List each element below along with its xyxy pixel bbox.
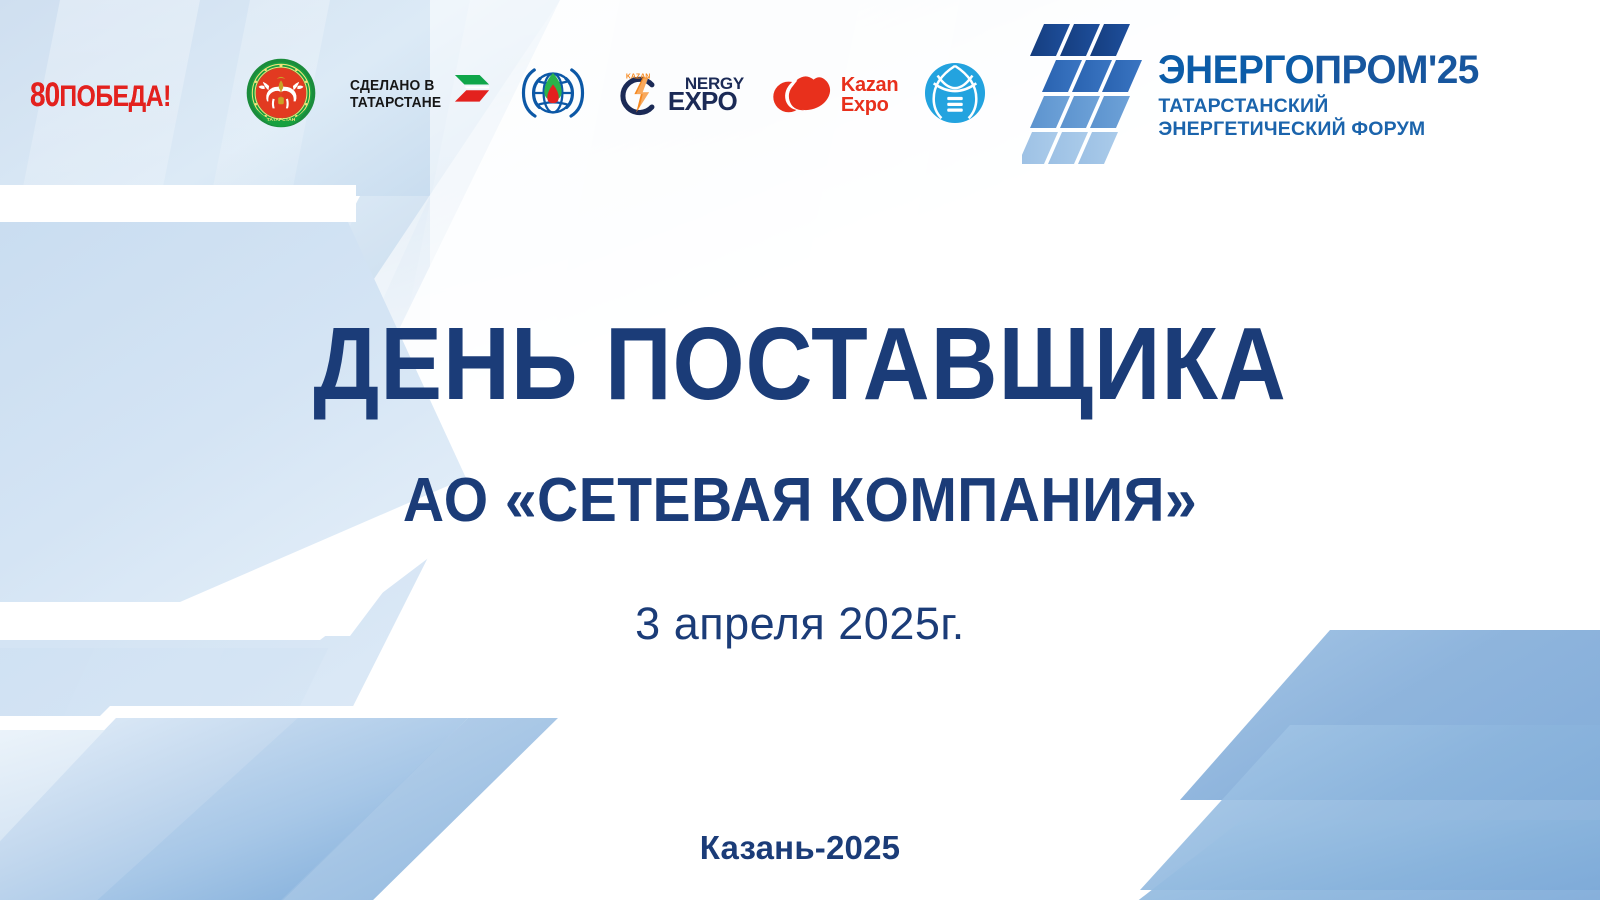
energoprom-mark-icon — [1022, 22, 1142, 168]
page-subtitle: АО «СЕТЕВАЯ КОМПАНИЯ» — [64, 470, 1536, 532]
energoprom-sub-line-1: ТАТАРСТАНСКИЙ — [1158, 95, 1489, 118]
logo-kazan-dome — [898, 62, 986, 129]
presentation-slide: 80ПОБЕДА! — [0, 0, 1600, 900]
tatarstan-coat-of-arms-icon: ТАТАРСТАН — [246, 58, 316, 128]
energy-expo-wordmark: NERGY EXPO — [668, 77, 744, 113]
logo-made-in-tatarstan: СДЕЛАНО В ТАТАРСТАНЕ — [350, 73, 491, 117]
energoprom-sub-line-2: ЭНЕРГЕТИЧЕСКИЙ ФОРУМ — [1158, 118, 1489, 141]
made-line-2: ТАТАРСТАНЕ — [350, 95, 441, 112]
energoprom-brand-bold: ЭНЕРГО — [1158, 48, 1314, 92]
slide-footer-location: Казань-2025 — [0, 829, 1600, 867]
page-title: ДЕНЬ ПОСТАВЩИКА — [80, 312, 1520, 415]
logo-tatarstan-coat-of-arms: ТАТАРСТАН — [202, 58, 316, 133]
tatarstan-flag-arrow-icon — [453, 73, 491, 117]
event-date: 3 апреля 2025г. — [0, 598, 1600, 650]
pobeda-word: ПОБЕДА! — [59, 80, 171, 113]
energoprom-brand-light: ПРОМ'25 — [1314, 48, 1479, 92]
energy-expo-line-2: EXPO — [668, 91, 744, 113]
pobeda-text: 80ПОБЕДА! — [30, 78, 171, 112]
made-line-1: СДЕЛАНО В — [350, 78, 441, 95]
kazan-expo-wordmark: Kazan Expo — [841, 75, 898, 116]
energy-expo-kazan-label: KAZAN — [626, 73, 651, 80]
pobeda-number: 80 — [30, 76, 59, 114]
coat-of-arms-caption: ТАТАРСТАН — [267, 117, 296, 123]
logo-energy-expo: KAZAN NERGY EXPO — [615, 70, 744, 120]
made-in-tatarstan-text: СДЕЛАНО В ТАТАРСТАНЕ — [350, 78, 441, 112]
kazan-expo-tulip-icon — [772, 72, 834, 118]
logo-oil-gas-hands — [491, 57, 589, 134]
kazan-dome-book-icon — [924, 62, 986, 124]
logo-kazan-expo: Kazan Expo — [772, 72, 898, 118]
hands-globe-flame-icon — [517, 57, 589, 129]
kazan-expo-line-2: Expo — [841, 95, 898, 115]
logo-80-pobeda: 80ПОБЕДА! — [30, 78, 202, 112]
logo-energoprom: ЭНЕРГОПРОМ'25 ТАТАРСТАНСКИЙ ЭНЕРГЕТИЧЕСК… — [1022, 22, 1489, 168]
energoprom-brand: ЭНЕРГОПРОМ'25 — [1158, 50, 1479, 90]
energoprom-wordmark: ЭНЕРГОПРОМ'25 ТАТАРСТАНСКИЙ ЭНЕРГЕТИЧЕСК… — [1158, 50, 1489, 140]
partner-logo-strip: 80ПОБЕДА! — [0, 0, 1600, 190]
kazan-expo-line-1: Kazan — [841, 75, 898, 95]
energy-expo-mark-icon: KAZAN — [615, 70, 663, 120]
energoprom-subtitle: ТАТАРСТАНСКИЙ ЭНЕРГЕТИЧЕСКИЙ ФОРУМ — [1158, 95, 1489, 140]
